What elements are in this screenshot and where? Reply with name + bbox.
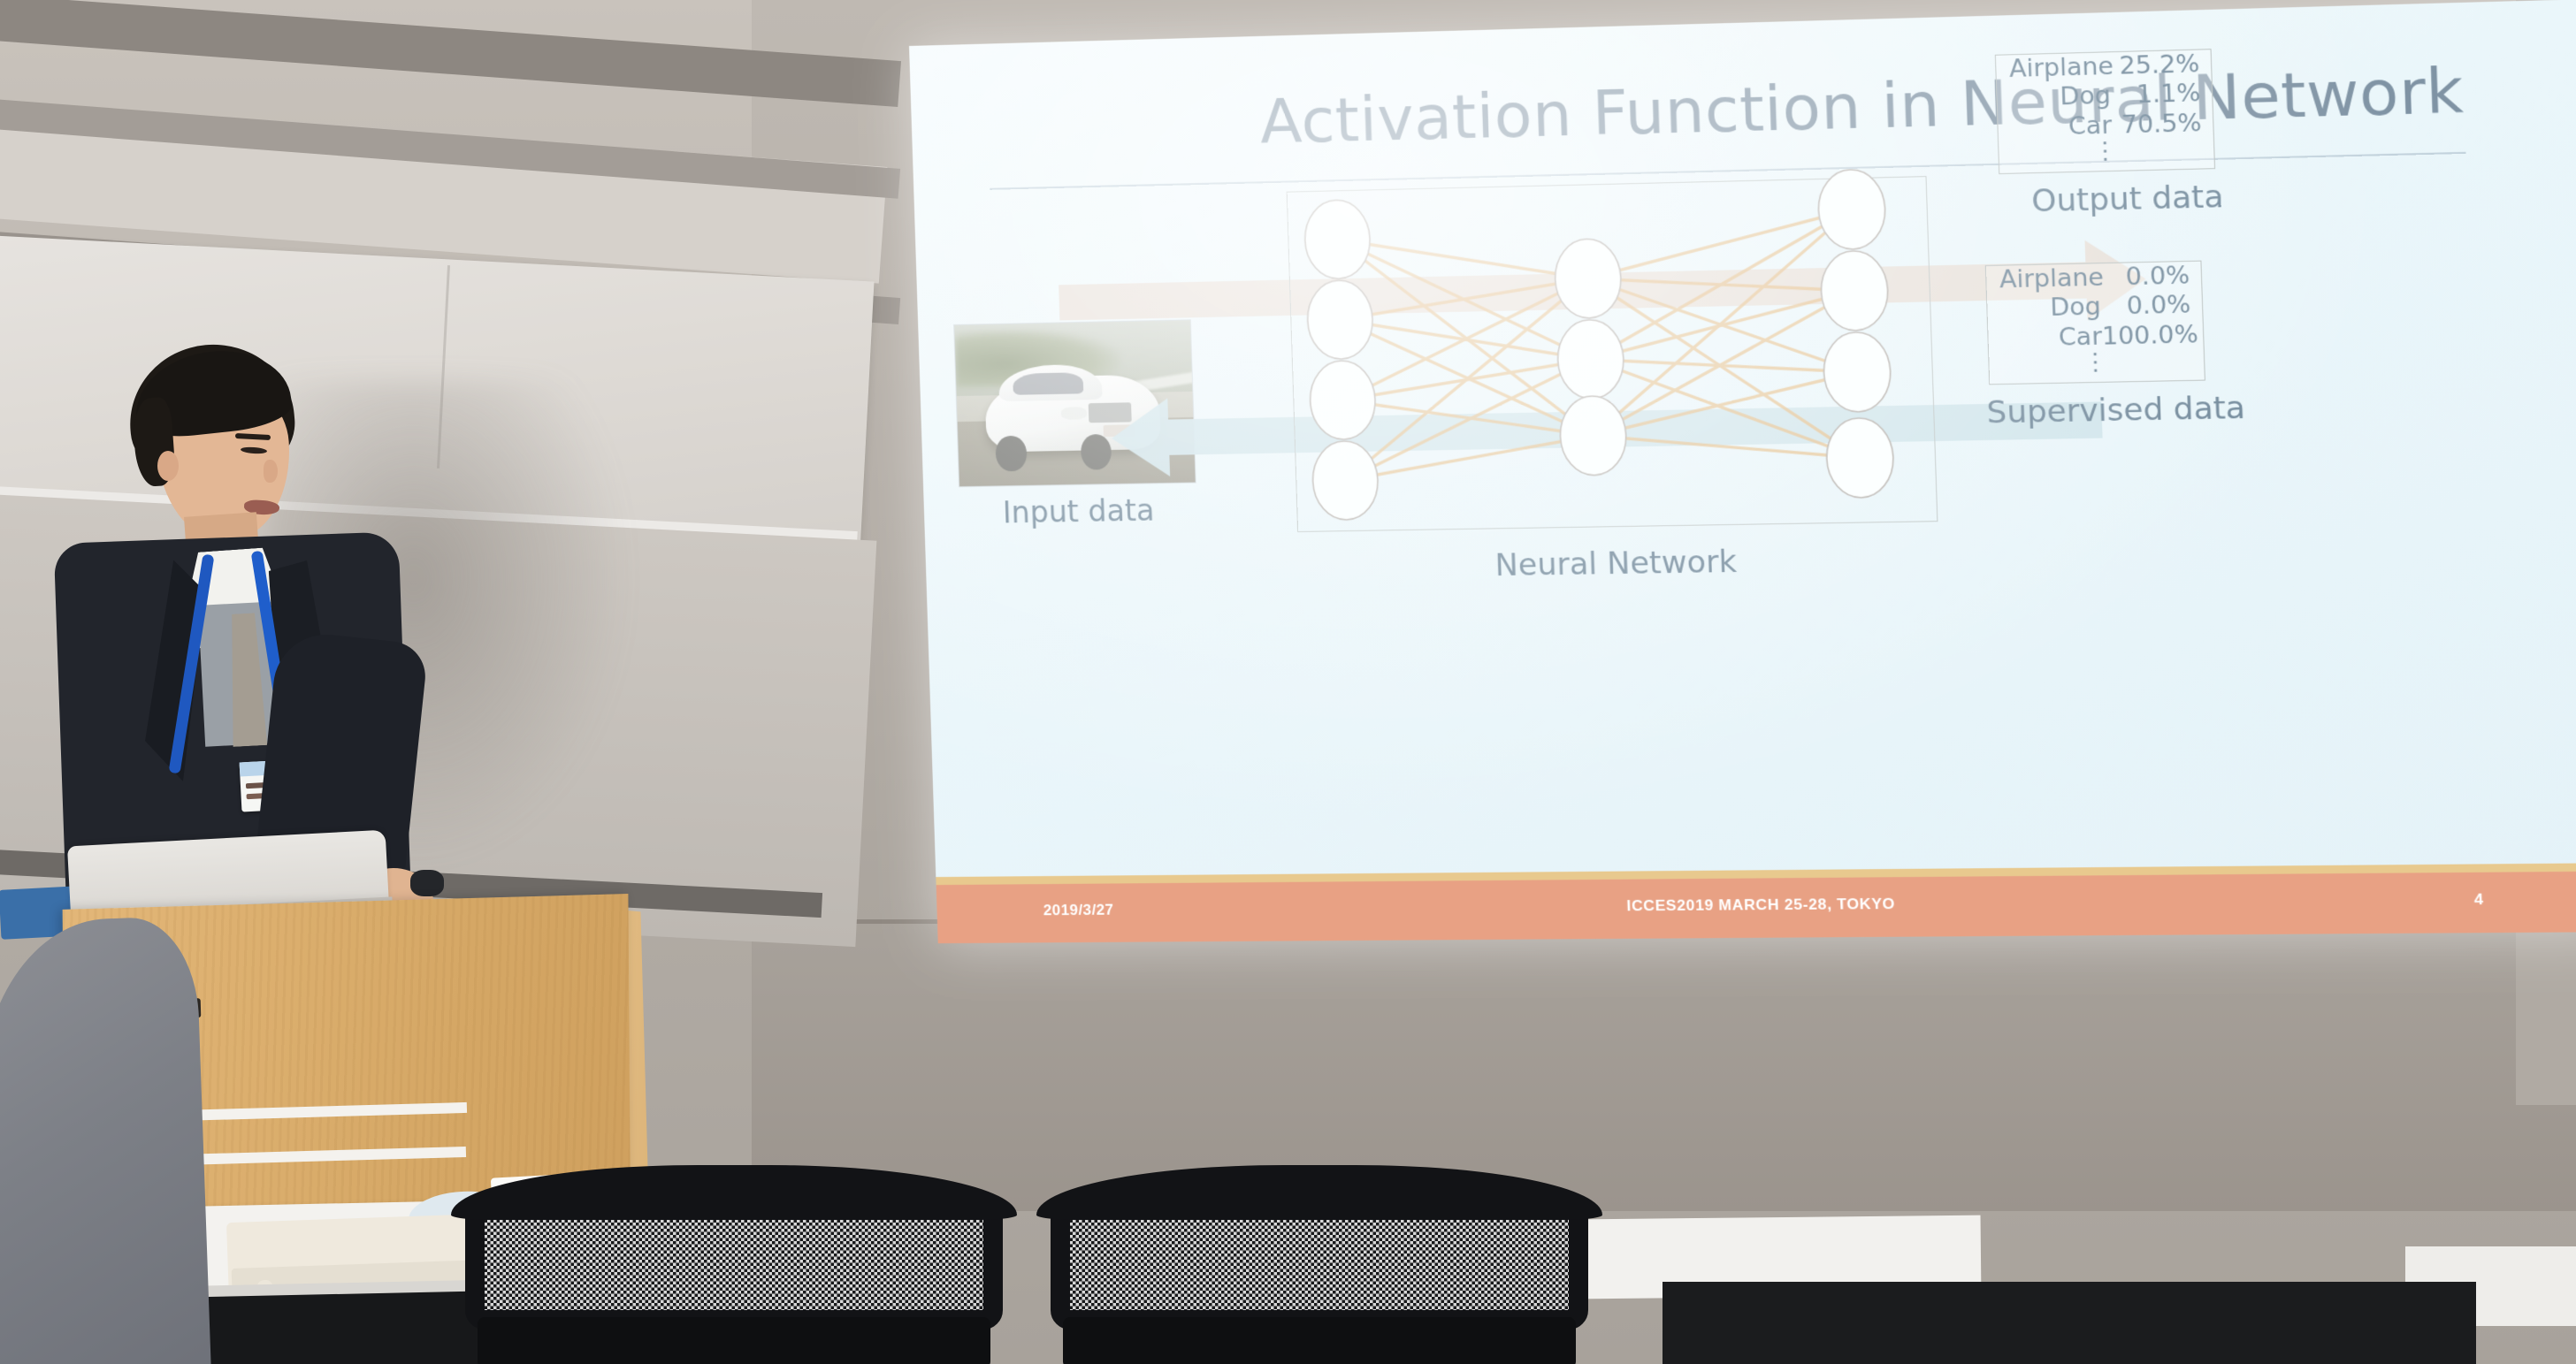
footer-conference: ICCES2019 MARCH 25-28, TOKYO: [936, 889, 2576, 920]
chair-seat-back: [478, 1317, 990, 1364]
supervised-value-dog: 0.0%: [2100, 291, 2191, 322]
supervised-data-box: Airplane 0.0% Dog 0.0% Car 100.0% ⋮: [1985, 261, 2205, 385]
neural-network-label: Neural Network: [1298, 541, 1938, 587]
supervised-row-airplane: Airplane 0.0%: [1986, 262, 2202, 296]
presentation-clicker: [410, 870, 444, 896]
output-label-dog: Dog: [2010, 82, 2112, 114]
projection-screen: Activation Function in Neural Network In…: [909, 46, 2526, 965]
output-value-airplane: 25.2%: [2109, 50, 2200, 82]
output-data-label: Output data: [1987, 178, 2268, 221]
output-label-airplane: Airplane: [2009, 52, 2111, 84]
mesh-chair-right: [1036, 1165, 1602, 1364]
presenter-ear: [157, 451, 179, 481]
output-value-car: 70.5%: [2112, 109, 2203, 141]
mesh-chair-left: [451, 1165, 1017, 1364]
supervised-ellipsis-icon: ⋮: [1989, 354, 2204, 371]
seated-attendee: [0, 916, 211, 1364]
neural-network-graph: [1286, 157, 1955, 548]
presenter-nose: [264, 460, 278, 483]
supervised-label-airplane: Airplane: [1999, 263, 2101, 295]
footer-page-number: 4: [2474, 891, 2484, 910]
chair-top-rim: [1036, 1165, 1602, 1220]
car-wheel-front: [996, 435, 1028, 471]
slide: Activation Function in Neural Network In…: [909, 0, 2576, 943]
supervised-row-dog: Dog 0.0%: [1987, 291, 2203, 324]
slide-title: Activation Function in Neural Network: [996, 56, 2465, 165]
output-value-dog: 1.1%: [2110, 80, 2201, 111]
chair-top-rim: [451, 1165, 1017, 1220]
supervised-data-label: Supervised data: [1971, 390, 2262, 431]
output-data-box: Airplane 25.2% Dog 1.1% Car 70.5% ⋮: [1995, 49, 2215, 174]
presentation-photo: Activation Function in Neural Network In…: [0, 0, 2576, 1364]
chair-seat-back: [1063, 1317, 1576, 1364]
floor-shadow-right: [1663, 1282, 2476, 1364]
supervised-value-car: 100.0%: [2101, 321, 2192, 352]
supervised-label-dog: Dog: [2000, 293, 2102, 324]
supervised-value-airplane: 0.0%: [2099, 262, 2190, 293]
output-ellipsis-icon: ⋮: [1999, 141, 2213, 160]
